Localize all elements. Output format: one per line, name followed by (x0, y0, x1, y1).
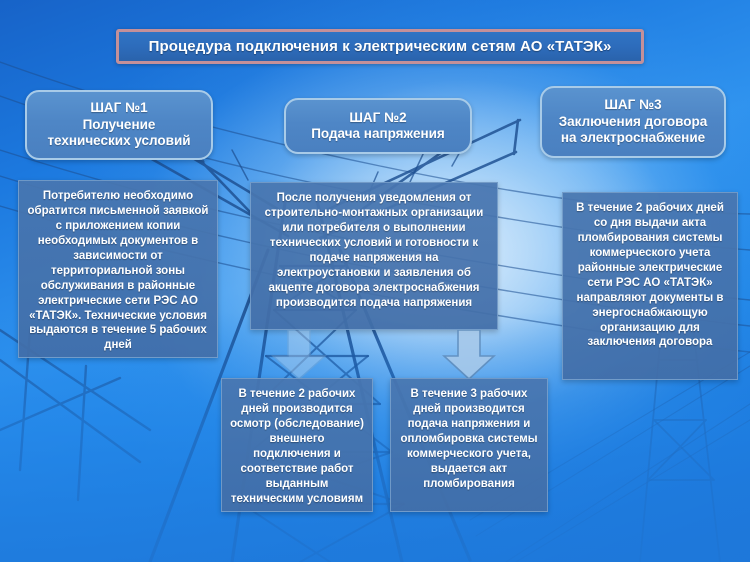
step-2-body-text: После получения уведомления от строитель… (259, 191, 489, 311)
step-2-header[interactable]: ШАГ №2 Подача напряжения (284, 98, 472, 154)
step-3-body-text: В течение 2 рабочих дней со дня выдачи а… (571, 201, 729, 350)
outcome-inspection-panel: В течение 2 рабочих дней производится ос… (221, 378, 373, 512)
page-title: Процедура подключения к электрическим се… (149, 38, 612, 55)
slide-canvas: Процедура подключения к электрическим се… (0, 0, 750, 562)
outcome-voltage-text: В течение 3 рабочих дней производится по… (399, 387, 539, 492)
step-3-header-line-1: ШАГ №3 (604, 97, 661, 113)
step-1-header[interactable]: ШАГ №1 Получение технических условий (25, 90, 213, 160)
step-3-body-panel: В течение 2 рабочих дней со дня выдачи а… (562, 192, 738, 380)
step-1-header-line-1: ШАГ №1 (90, 100, 147, 116)
step-3-header-line-2: Заключения договора (559, 114, 708, 130)
arrow-down-icon-to-inspection (268, 330, 330, 380)
step-1-body-text: Потребителю необходимо обратится письмен… (27, 189, 209, 353)
arrow-down-icon-to-voltage (440, 330, 498, 380)
step-2-body-panel: После получения уведомления от строитель… (250, 182, 498, 330)
step-2-header-line-1: ШАГ №2 (349, 110, 406, 126)
slide-title-banner: Процедура подключения к электрическим се… (116, 29, 644, 64)
step-1-body-panel: Потребителю необходимо обратится письмен… (18, 180, 218, 358)
step-1-header-line-2: Получение (83, 117, 156, 133)
step-3-header-line-3: на электроснабжение (561, 130, 705, 146)
outcome-voltage-panel: В течение 3 рабочих дней производится по… (390, 378, 548, 512)
step-1-header-line-3: технических условий (47, 133, 190, 149)
step-3-header[interactable]: ШАГ №3 Заключения договора на электросна… (540, 86, 726, 158)
step-2-header-line-2: Подача напряжения (311, 126, 445, 142)
outcome-inspection-text: В течение 2 рабочих дней производится ос… (230, 387, 364, 507)
